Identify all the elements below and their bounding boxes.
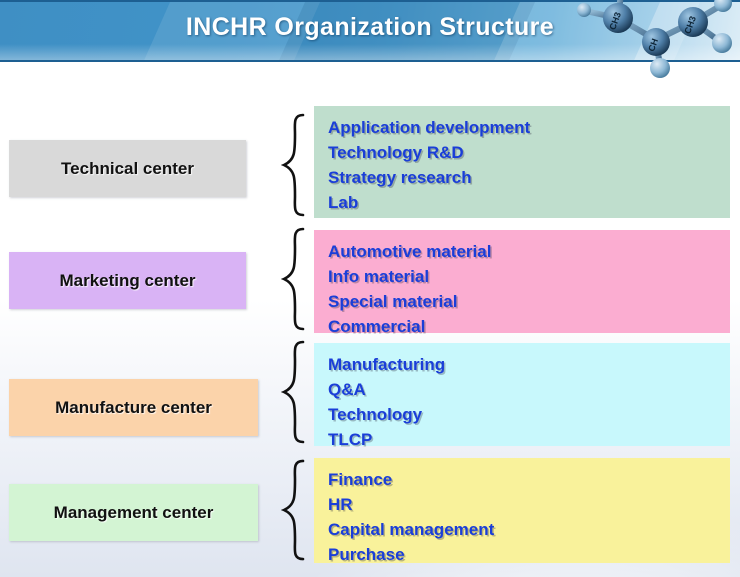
panel-item: Special material: [328, 289, 730, 314]
panel-item: Q&A: [328, 377, 730, 402]
panel-marketing: Automotive material Info material Specia…: [314, 230, 730, 333]
panel-item: Info material: [328, 264, 730, 289]
label-box-manufacture-center[interactable]: Manufacture center: [9, 379, 258, 436]
label-text: Marketing center: [59, 271, 195, 291]
panel-manufacture: Manufacturing Q&A Technology TLCP: [314, 343, 730, 446]
label-text: Technical center: [61, 159, 194, 179]
org-row-marketing: Marketing center Automotive material Inf…: [0, 230, 740, 333]
panel-item: Finance: [328, 467, 730, 492]
panel-item: Automotive material: [328, 239, 730, 264]
panel-item: Technology R&D: [328, 140, 730, 165]
label-box-marketing-center[interactable]: Marketing center: [9, 252, 246, 309]
brace-technical: [281, 112, 309, 218]
panel-item: Purchase: [328, 542, 730, 567]
label-text: Management center: [54, 503, 214, 523]
panel-item: Strategy research: [328, 165, 730, 190]
org-row-technical: Technical center Application development…: [0, 106, 740, 218]
org-row-management: Management center Finance HR Capital man…: [0, 458, 740, 563]
panel-item: Manufacturing: [328, 352, 730, 377]
page-title: INCHR Organization Structure: [0, 13, 740, 42]
label-box-management-center[interactable]: Management center: [9, 484, 258, 541]
label-box-technical-center[interactable]: Technical center: [9, 140, 246, 197]
panel-item: Application development: [328, 115, 730, 140]
panel-item: Capital management: [328, 517, 730, 542]
panel-item: HR: [328, 492, 730, 517]
panel-item: Technology: [328, 402, 730, 427]
brace-manufacture: [281, 339, 309, 445]
panel-item: TLCP: [328, 427, 730, 452]
org-row-manufacture: Manufacture center Manufacturing Q&A Tec…: [0, 343, 740, 446]
panel-item: Lab: [328, 190, 730, 215]
panel-management: Finance HR Capital management Purchase: [314, 458, 730, 563]
label-text: Manufacture center: [55, 398, 212, 418]
slide-canvas: INCHR Organization Structure: [0, 0, 740, 577]
panel-technical: Application development Technology R&D S…: [314, 106, 730, 218]
brace-marketing: [281, 226, 309, 332]
panel-item: Commercial: [328, 314, 730, 339]
brace-management: [281, 458, 309, 562]
